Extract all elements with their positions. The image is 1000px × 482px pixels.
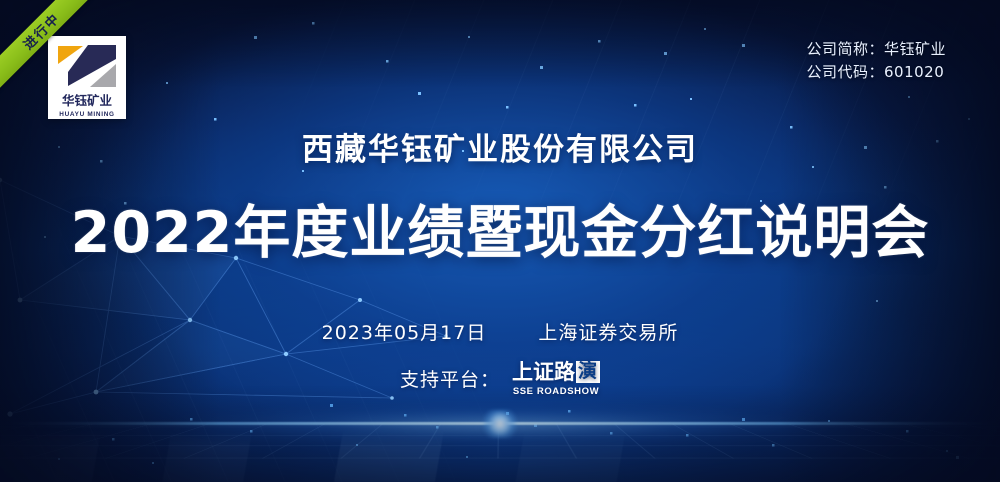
sse-roadshow-logo-en: SSE ROADSHOW [513,387,599,397]
company-short-name: 公司简称：华钰矿业 [806,38,946,61]
company-full-name: 西藏华钰矿业股份有限公司 [302,124,698,169]
event-date: 2023年05月17日 [322,318,487,345]
event-info-line: 2023年05月17日 上海证券交易所 [322,318,679,345]
event-venue: 上海证券交易所 [538,318,678,345]
lens-flare-decor [482,410,518,438]
company-meta: 公司简称：华钰矿业 公司代码：601020 [806,38,946,85]
sse-roadshow-cn-plain: 上证路 [512,362,575,383]
company-logo-name-en: HUAYU MINING [59,111,114,118]
event-banner: 进行中 华钰矿业 HUAYU MINING 公司简称：华钰矿业 公司代码：601… [0,0,1000,482]
sse-roadshow-cn-boxed: 演 [576,361,600,383]
company-code: 公司代码：601020 [806,61,946,84]
page-title: 2022年度业绩暨现金分红说明会 [71,187,930,269]
platform-line: 支持平台： 上证路 演 SSE ROADSHOW [400,361,600,397]
status-badge-label: 进行中 [18,8,63,53]
sse-roadshow-logo: 上证路 演 SSE ROADSHOW [512,361,600,397]
status-ribbon-band: 进行中 [0,0,102,92]
status-ribbon: 进行中 [0,0,108,108]
platform-label: 支持平台： [400,365,500,392]
sse-roadshow-logo-cn: 上证路 演 [512,361,600,383]
